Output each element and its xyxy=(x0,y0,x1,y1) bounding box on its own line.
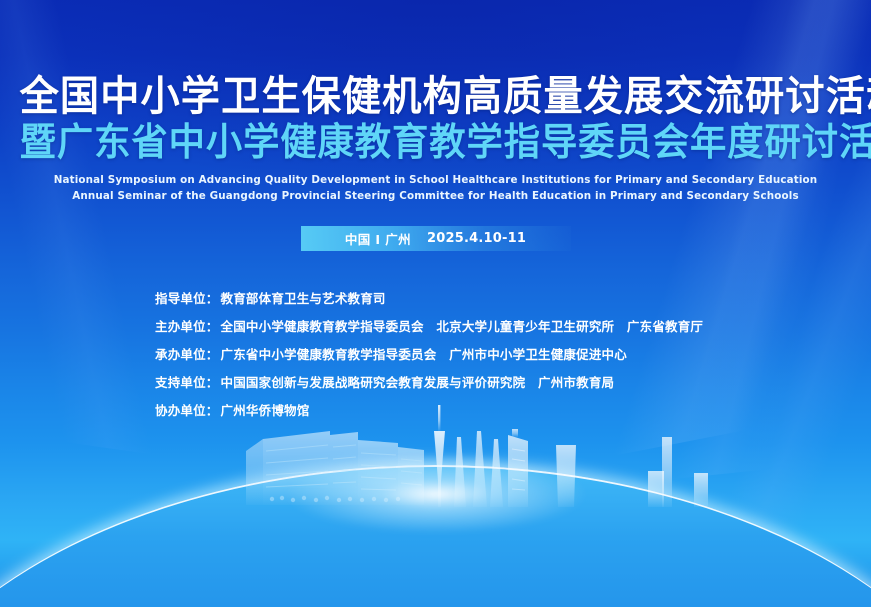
page-title-english-line-2: Annual Seminar of the Guangdong Provinci… xyxy=(7,189,865,205)
title-block: 全国中小学卫生保健机构高质量发展交流研讨活动 暨广东省中小学健康教育教学指导委员… xyxy=(0,74,871,204)
event-banner-inner: 中国 I 广州 2025.4.10-11 xyxy=(301,226,571,251)
page-title-english: National Symposium on Advancing Quality … xyxy=(0,173,871,204)
central-towers-illustration xyxy=(556,445,576,507)
school-building-illustration xyxy=(246,431,424,505)
twin-spire-towers-illustration xyxy=(454,431,503,507)
canton-tower-illustration xyxy=(434,405,445,507)
conference-poster: 全国中小学卫生保健机构高质量发展交流研讨活动 暨广东省中小学健康教育教学指导委员… xyxy=(0,0,871,607)
right-tower-cluster-illustration xyxy=(648,437,708,507)
organizer-value: 教育部体育卫生与艺术教育司 xyxy=(221,288,386,307)
organizer-value: 中国国家创新与发展战略研究会教育发展与评价研究院 广州市教育局 xyxy=(221,372,615,391)
horizon-fill xyxy=(0,467,871,607)
organizer-value: 全国中小学健康教育教学指导委员会 北京大学儿童青少年卫生研究所 广东省教育厅 xyxy=(221,316,704,335)
page-title-chinese-secondary: 暨广东省中小学健康教育教学指导委员会年度研讨活动 xyxy=(20,122,852,164)
event-location: 中国 I 广州 xyxy=(345,229,411,248)
organizer-label: 承办单位： xyxy=(155,344,219,363)
organizer-label: 主办单位： xyxy=(155,316,219,335)
organizer-label: 指导单位： xyxy=(155,288,219,307)
event-banner: 中国 I 广州 2025.4.10-11 xyxy=(0,226,871,251)
page-title-chinese-primary: 全国中小学卫生保健机构高质量发展交流研讨活动 xyxy=(20,74,852,118)
page-title-english-line-1: National Symposium on Advancing Quality … xyxy=(7,173,865,189)
horizon-arc xyxy=(0,417,871,607)
organizer-list: 指导单位： 教育部体育卫生与艺术教育司 主办单位： 全国中小学健康教育教学指导委… xyxy=(155,288,703,419)
organizer-row: 支持单位： 中国国家创新与发展战略研究会教育发展与评价研究院 广州市教育局 xyxy=(155,372,703,391)
stepped-office-tower-illustration xyxy=(508,429,528,507)
organizer-row: 协办单位： 广州华侨博物馆 xyxy=(155,400,703,419)
organizer-label: 支持单位： xyxy=(155,372,219,391)
event-date: 2025.4.10-11 xyxy=(427,231,526,246)
organizer-value: 广州华侨博物馆 xyxy=(221,400,310,419)
organizer-value: 广东省中小学健康教育教学指导委员会 广州市中小学卫生健康促进中心 xyxy=(221,344,627,363)
horizon-highlight-line xyxy=(0,465,871,607)
organizer-row: 承办单位： 广东省中小学健康教育教学指导委员会 广州市中小学卫生健康促进中心 xyxy=(155,344,703,363)
ground-light-glow xyxy=(226,439,646,549)
organizer-row: 主办单位： 全国中小学健康教育教学指导委员会 北京大学儿童青少年卫生研究所 广东… xyxy=(155,316,703,335)
organizer-row: 指导单位： 教育部体育卫生与艺术教育司 xyxy=(155,288,703,307)
organizer-label: 协办单位： xyxy=(155,400,219,419)
